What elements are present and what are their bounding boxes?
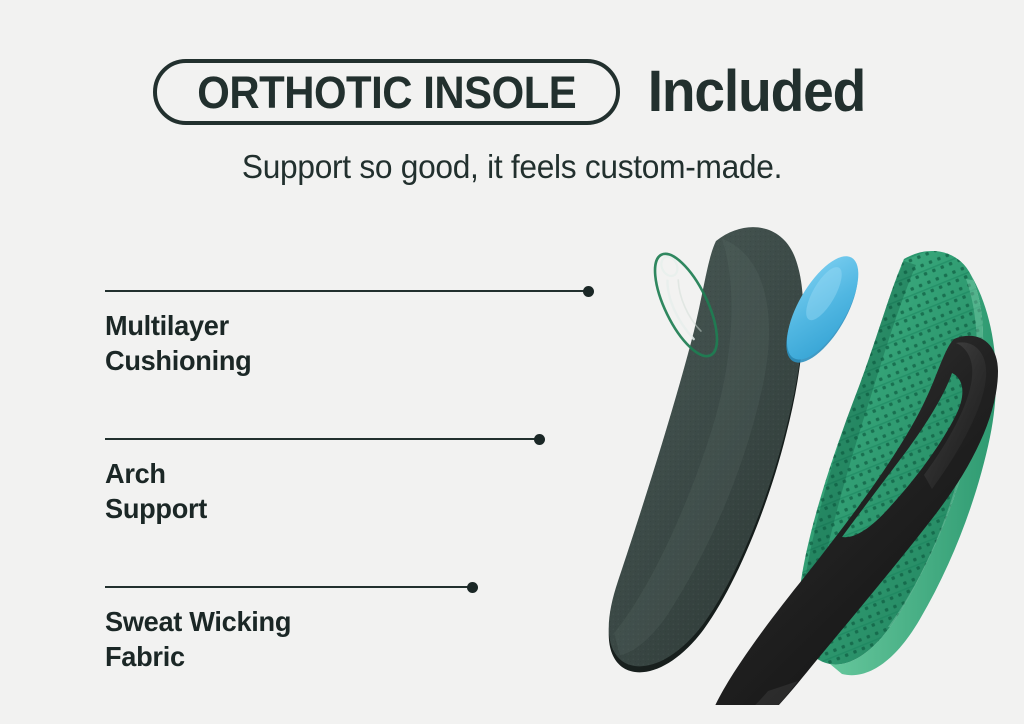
feature-callout-multilayer-cushioning: Multilayer Cushioning [105,285,256,379]
leader-line [105,285,256,297]
product-photo-insole-layers [470,205,1024,705]
feature-callout-arch-support: Arch Support [105,433,210,527]
feature-callout-sweat-wicking-fabric: Sweat Wicking Fabric [105,581,297,675]
leader-line-stroke [105,586,473,588]
feature-label: Arch Support [105,456,207,527]
feature-label: Multilayer Cushioning [105,308,251,379]
feature-label: Sweat Wicking Fabric [105,604,291,675]
leader-line [105,581,297,593]
leader-line [105,433,210,445]
